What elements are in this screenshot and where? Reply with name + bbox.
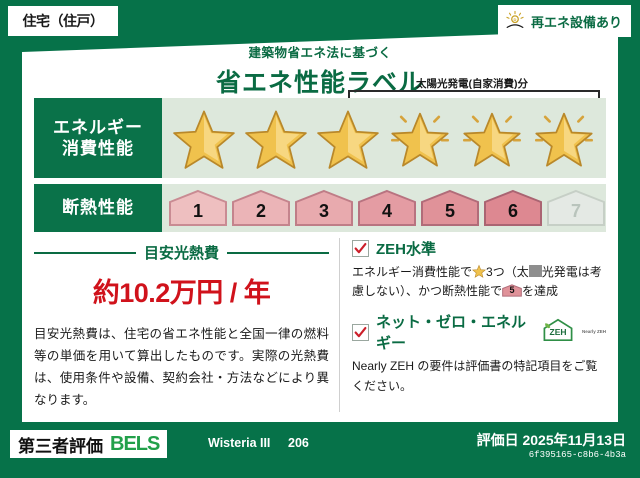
star-rating: [162, 98, 606, 178]
zeh-netzero-heading: ネット・ゼロ・エネルギー ZEH Nearly ZEH: [352, 311, 606, 353]
housing-type-label: 住宅（住戸）: [23, 11, 104, 31]
redaction-block: [529, 265, 542, 277]
insulation-performance-label: 断熱性能: [34, 184, 162, 232]
zeh-standard-heading: ZEH水準: [352, 238, 606, 259]
renewable-equipment-label: 再エネ設備あり: [531, 12, 622, 31]
performance-section: エネルギー 消費性能 太陽光発電(自家消費)分: [34, 98, 606, 238]
zeh-netzero-description: Nearly ZEH の要件は評価書の特記項目をご覧ください。: [352, 357, 606, 395]
svg-text:ZEH: ZEH: [549, 327, 566, 337]
label-subtitle: 建築物省エネ法に基づく: [22, 42, 618, 61]
evaluation-id: 6f395165-c8b6-4b3a: [529, 450, 626, 460]
insulation-badge-list: 1 2 3 4: [162, 184, 612, 232]
star-icon: [312, 107, 384, 169]
star-icon-solar: [456, 107, 528, 169]
zeh-desc-part4: を達成: [522, 284, 558, 298]
checkbox-zeh-netzero[interactable]: [352, 324, 369, 341]
lower-section: 目安光熱費 約10.2万円 / 年 目安光熱費は、住宅の省エネ性能と全国一律の燃…: [34, 238, 606, 412]
unit-number: 206: [288, 436, 309, 450]
zeh-netzero-title: ネット・ゼロ・エネルギー: [376, 311, 534, 353]
zeh-desc-part1: エネルギー消費性能で: [352, 265, 472, 279]
insulation-performance-body: 1 2 3 4: [162, 184, 612, 232]
utility-cost-heading-label: 目安光熱費: [144, 242, 219, 263]
solar-bracket: [348, 90, 600, 98]
insulation-badge: 2: [231, 189, 291, 227]
footer-bar: 第三者評価 BELS Wisteria III 206 評価日 2025年11月…: [0, 422, 640, 478]
insulation-badge: 6: [483, 189, 543, 227]
svg-text:D: D: [514, 17, 517, 22]
zeh-standard-title: ZEH水準: [376, 238, 436, 259]
inline-insulation-badge: 5: [502, 283, 522, 298]
zeh-desc-part2: 3つ（太: [486, 265, 529, 279]
energy-label-root: 住宅（住戸） D 再エネ設備あり 建築物省エネ法に基づく 省エネ性能ラベル: [0, 0, 640, 478]
zeh-netzero-block: ネット・ゼロ・エネルギー ZEH Nearly ZEH Nearly ZEH の…: [352, 311, 606, 395]
evaluation-date: 評価日 2025年11月13日: [477, 430, 626, 450]
zeh-house-logo-icon: ZEH: [541, 318, 575, 347]
insulation-badge: 4: [357, 189, 417, 227]
energy-performance-row: エネルギー 消費性能 太陽光発電(自家消費)分: [34, 98, 606, 178]
bels-jp-label: 第三者評価: [18, 432, 103, 457]
zeh-logo-subtext: Nearly ZEH: [582, 330, 606, 335]
insulation-badge-inactive: 7: [546, 189, 606, 227]
star-icon-solar: [384, 107, 456, 169]
insulation-badge: 3: [294, 189, 354, 227]
sun-icon: D: [504, 10, 526, 32]
bels-evaluation-badge: 第三者評価 BELS: [10, 430, 167, 458]
utility-cost-note: 目安光熱費は、住宅の省エネ性能と全国一律の燃料等の単価を用いて算出したものです。…: [34, 324, 329, 412]
label-card: 建築物省エネ法に基づく 省エネ性能ラベル エネルギー 消費性能 太陽光発電(自家…: [22, 30, 618, 422]
housing-type-tag: 住宅（住戸）: [8, 6, 118, 36]
energy-performance-label: エネルギー 消費性能: [34, 98, 162, 178]
star-icon: [168, 107, 240, 169]
zeh-section: ZEH水準 エネルギー消費性能で3つ（太光発電は考慮しない）、かつ断熱性能で5を…: [339, 238, 606, 412]
inline-badge-value: 5: [502, 283, 522, 298]
insulation-badge: 5: [420, 189, 480, 227]
utility-cost-heading: 目安光熱費: [34, 242, 329, 263]
solar-annotation-label: 太陽光発電(自家消費)分: [342, 76, 602, 91]
utility-cost-section: 目安光熱費 約10.2万円 / 年 目安光熱費は、住宅の省エネ性能と全国一律の燃…: [34, 238, 339, 412]
zeh-standard-description: エネルギー消費性能で3つ（太光発電は考慮しない）、かつ断熱性能で5を達成: [352, 263, 606, 301]
zeh-standard-block: ZEH水準 エネルギー消費性能で3つ（太光発電は考慮しない）、かつ断熱性能で5を…: [352, 238, 606, 301]
bels-logo-text: BELS: [110, 433, 159, 456]
energy-performance-body: 太陽光発電(自家消費)分: [162, 98, 606, 178]
building-name: Wisteria III: [208, 436, 270, 450]
divider-left: [34, 252, 136, 254]
inline-star-icon: [472, 264, 486, 278]
divider-right: [227, 252, 329, 254]
insulation-performance-row: 断熱性能 1 2 3: [34, 184, 606, 232]
checkbox-zeh-standard[interactable]: [352, 240, 369, 257]
utility-cost-value: 約10.2万円 / 年: [34, 271, 329, 310]
star-icon-solar: [528, 107, 600, 169]
insulation-badge: 1: [168, 189, 228, 227]
star-icon: [240, 107, 312, 169]
